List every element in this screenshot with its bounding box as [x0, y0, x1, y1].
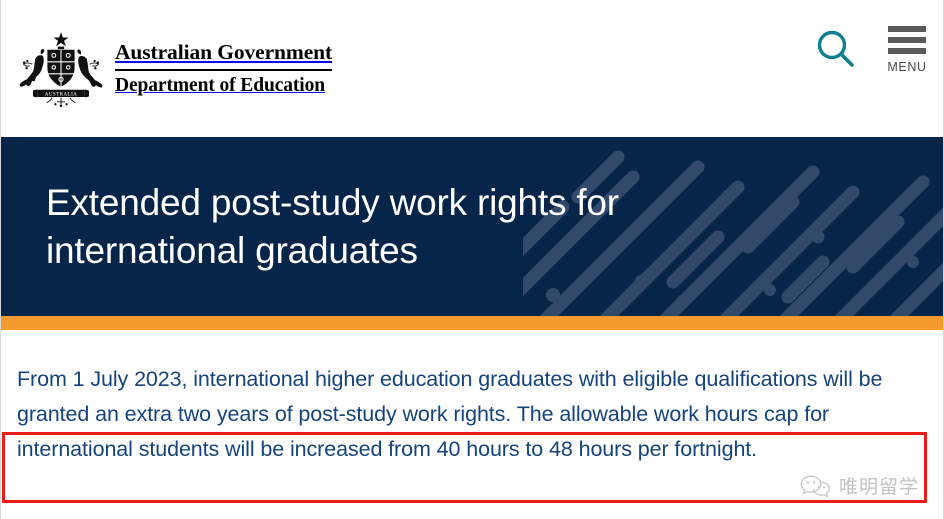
svg-text:AUSTRALIA: AUSTRALIA — [45, 91, 78, 97]
menu-label: MENU — [887, 60, 926, 74]
search-icon — [813, 26, 857, 74]
wechat-icon — [798, 473, 832, 499]
search-button[interactable] — [813, 26, 857, 74]
page-title: Extended post-study work rights for inte… — [46, 179, 706, 275]
page-root: AUSTRALIA Australian Government Departme… — [0, 0, 944, 519]
australian-coat-of-arms-icon: AUSTRALIA — [17, 28, 105, 110]
wechat-watermark: 唯明留学 — [798, 472, 919, 499]
brand-line-department: Department of Education — [115, 74, 332, 98]
watermark-text: 唯明留学 — [839, 472, 919, 499]
brand-text: Australian Government Department of Educ… — [115, 39, 332, 98]
brand-line-government: Australian Government — [115, 39, 332, 66]
hamburger-bar-bottom — [888, 48, 926, 54]
menu-button[interactable]: MENU — [885, 26, 929, 74]
header-actions: MENU — [813, 26, 929, 74]
hero-banner: Extended post-study work rights for inte… — [1, 137, 943, 316]
site-header: AUSTRALIA Australian Government Departme… — [1, 0, 943, 137]
hamburger-bar-middle — [888, 37, 926, 43]
brand-divider-rule — [115, 69, 332, 71]
intro-paragraph: From 1 July 2023, international higher e… — [17, 362, 907, 467]
orange-divider-bar — [1, 316, 943, 330]
site-brand-link[interactable]: AUSTRALIA Australian Government Departme… — [17, 28, 332, 110]
hamburger-bar-top — [888, 26, 926, 32]
